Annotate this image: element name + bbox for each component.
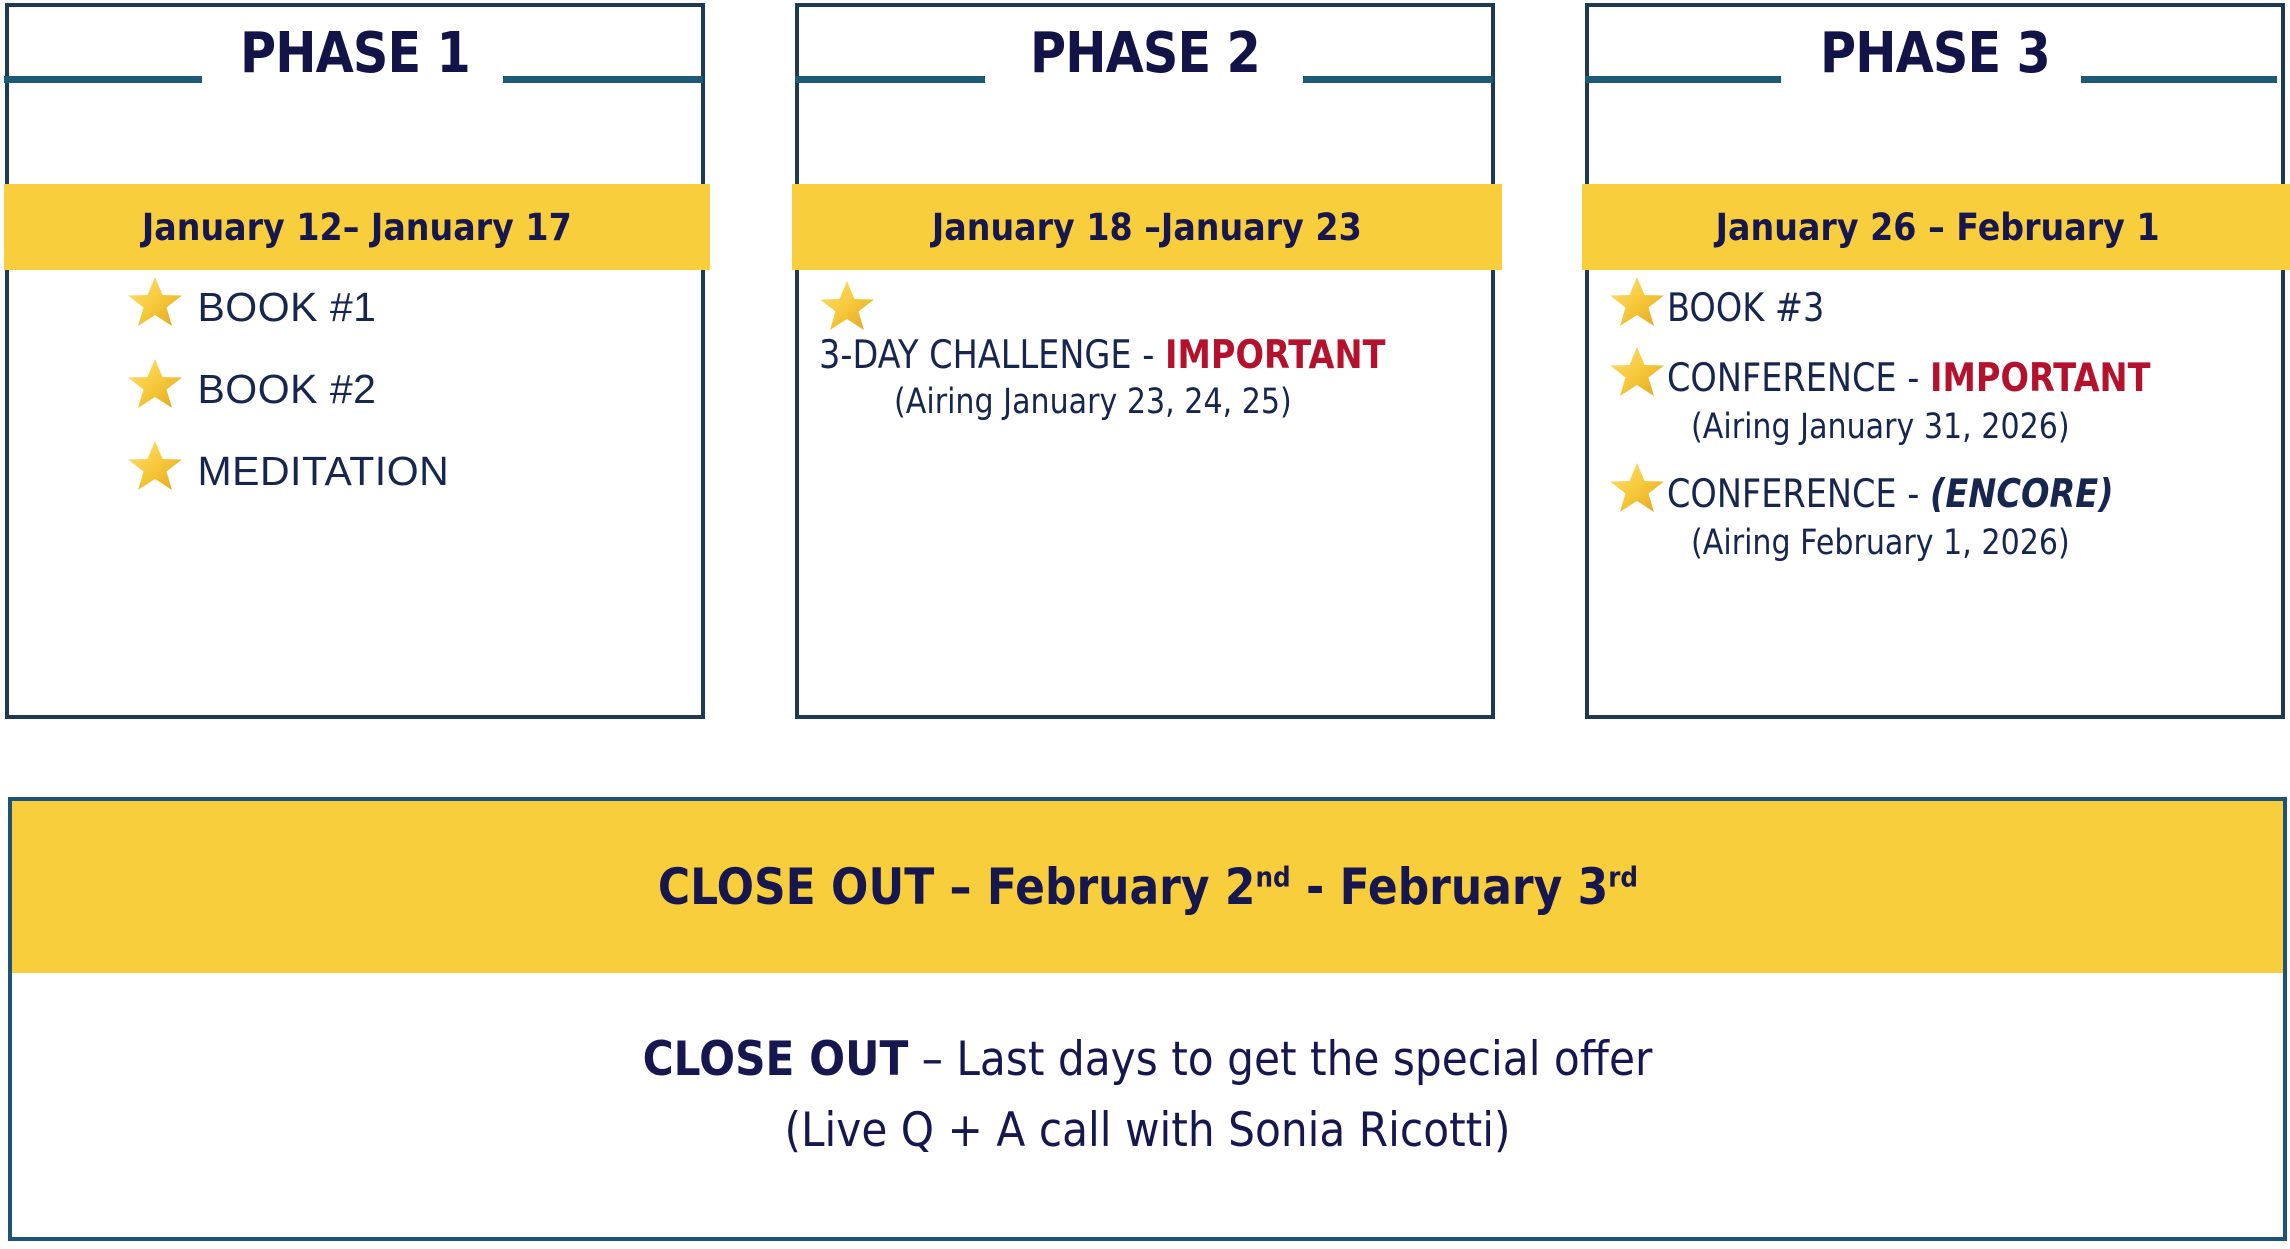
encore-badge: (ENCORE) [1930,472,2114,517]
phase-3-item-list: BOOK #3 CONFERENCE - IMPORTANT (Airing J… [1589,275,2290,583]
phase-3-date-band: January 26 – February 1 [1582,184,2290,270]
list-item-note: (Airing January 23, 24, 25) [894,382,1425,422]
list-item-note: (Airing February 1, 2026) [1691,523,2216,563]
closeout-line-1-bold: CLOSE OUT [643,1032,909,1087]
closeout-line-1-rest: – Last days to get the special offer [908,1032,1652,1087]
phase-1-date-band: January 12– January 17 [4,184,710,270]
phase-1-item-list: BOOK #1 BOOK #2 MEDITATION [9,275,819,521]
list-item: BOOK #2 [127,357,819,413]
list-item: BOOK #1 [127,275,819,331]
list-item-label: MEDITATION [197,448,449,494]
closeout-line-1: CLOSE OUT – Last days to get the special… [126,1025,2170,1096]
phase-card-1: PHASE 1 January 12– January 17 BOOK #1 B… [5,3,705,719]
closeout-ordinal-1: nd [1255,860,1290,893]
closeout-line-2: (Live Q + A call with Sonia Ricotti) [126,1096,2170,1167]
phase-2-date-range: January 18 –January 23 [932,206,1362,249]
status-badge: IMPORTANT [1165,333,1385,378]
phase-2-item-list: 3-DAY CHALLENGE - IMPORTANT (Airing Janu… [799,279,1511,434]
list-item: CONFERENCE - (ENCORE) (Airing February 1… [1609,461,2290,563]
list-item-label: 3-DAY CHALLENGE - [819,333,1165,378]
star-icon [127,439,183,493]
closeout-ordinal-2: rd [1608,860,1638,893]
phase-2-title: PHASE 2 [841,26,1450,82]
phase-3-date-range: January 26 – February 1 [1716,206,2160,249]
list-item-label: BOOK #3 [1667,286,1824,331]
list-item: 3-DAY CHALLENGE - IMPORTANT (Airing Janu… [819,279,1511,422]
list-item-label: CONFERENCE - [1667,356,1930,401]
star-icon [1609,345,1665,399]
phase-card-2: PHASE 2 January 18 –January 23 3-DAY CHA… [795,3,1495,719]
status-badge: IMPORTANT [1930,356,2150,401]
roadmap-canvas: PHASE 1 January 12– January 17 BOOK #1 B… [0,0,2290,1249]
phase-2-header: PHASE 2 [799,7,1491,149]
closeout-headline-mid: - February 3 [1290,858,1608,916]
list-item-label-group: CONFERENCE - (ENCORE) [1667,472,2114,517]
star-icon [819,279,875,333]
list-item-note: (Airing January 31, 2026) [1691,407,2216,447]
list-item: BOOK #3 [1609,275,2290,331]
closeout-panel: CLOSE OUT – February 2nd - February 3rd … [8,797,2287,1241]
phase-card-3: PHASE 3 January 26 – February 1 BOOK #3 … [1585,3,2285,719]
phase-1-date-range: January 12– January 17 [142,206,572,249]
star-icon [1609,275,1665,329]
list-item-label: CONFERENCE - [1667,472,1930,517]
list-item-label: BOOK #2 [197,366,376,412]
closeout-headline: CLOSE OUT – February 2nd - February 3rd [657,858,1637,916]
star-icon [127,357,183,411]
star-icon [1609,461,1665,515]
list-item-label: BOOK #1 [197,284,376,330]
star-icon [127,275,183,329]
phase-3-title: PHASE 3 [1631,26,2240,82]
list-item: CONFERENCE - IMPORTANT (Airing January 3… [1609,345,2290,447]
list-item-label-group: 3-DAY CHALLENGE - IMPORTANT [819,333,1385,378]
phase-1-header: PHASE 1 [9,7,701,149]
list-item-label-group: CONFERENCE - IMPORTANT [1667,356,2150,401]
closeout-body: CLOSE OUT – Last days to get the special… [12,973,2283,1166]
closeout-headline-prefix: CLOSE OUT – February 2 [657,858,1255,916]
phase-2-date-band: January 18 –January 23 [792,184,1502,270]
phase-1-title: PHASE 1 [51,26,660,82]
closeout-date-band: CLOSE OUT – February 2nd - February 3rd [12,801,2283,973]
phase-3-header: PHASE 3 [1589,7,2281,149]
list-item: MEDITATION [127,439,819,495]
